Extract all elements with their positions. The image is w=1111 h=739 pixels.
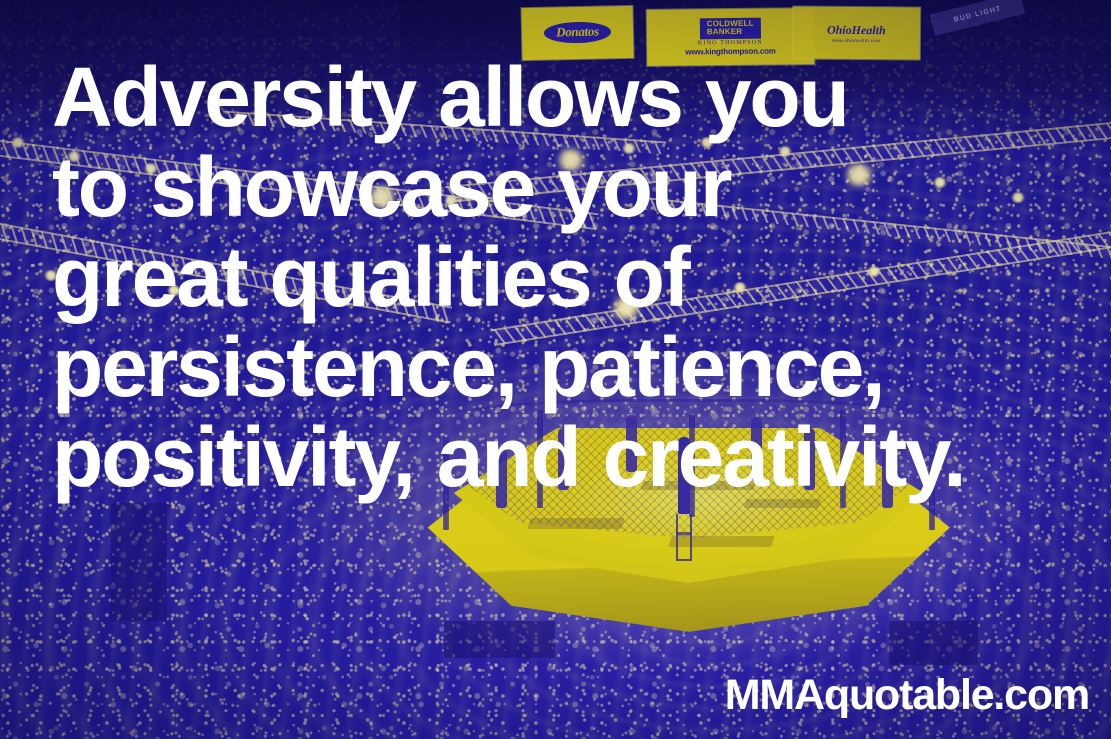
quote-line: to showcase your	[52, 142, 1097, 232]
quote-graphic-canvas: Donatos PIZZA COLDWELL BANKER KING THOMP…	[0, 0, 1111, 739]
site-watermark: MMAquotable.com	[725, 674, 1089, 717]
donatos-sub-text: PIZZA	[522, 39, 633, 46]
coldwell-brand-line-2: BANKER	[706, 28, 753, 36]
quote-line: persistence, patience,	[52, 322, 1097, 412]
cageside-table	[444, 621, 555, 658]
stage-spotlight	[11, 137, 25, 148]
ohiohealth-brand: OhioHealth	[827, 23, 886, 38]
quote-line: positivity, and creativity.	[52, 412, 1097, 502]
cameraman-stepladder	[676, 514, 692, 561]
arena-walkway-shadow	[111, 503, 167, 621]
coldwell-logo-box: COLDWELL BANKER	[699, 18, 760, 40]
cageside-riser	[889, 621, 978, 665]
quote-line: great qualities of	[52, 232, 1097, 322]
ohiohealth-url: www.ohiohealth.com	[793, 39, 920, 45]
coldwell-affiliate: KING THOMPSON	[697, 40, 762, 47]
quote-line: Adversity allows you	[52, 52, 1097, 142]
quote-text-block: Adversity allows you to showcase your gr…	[52, 52, 1097, 502]
